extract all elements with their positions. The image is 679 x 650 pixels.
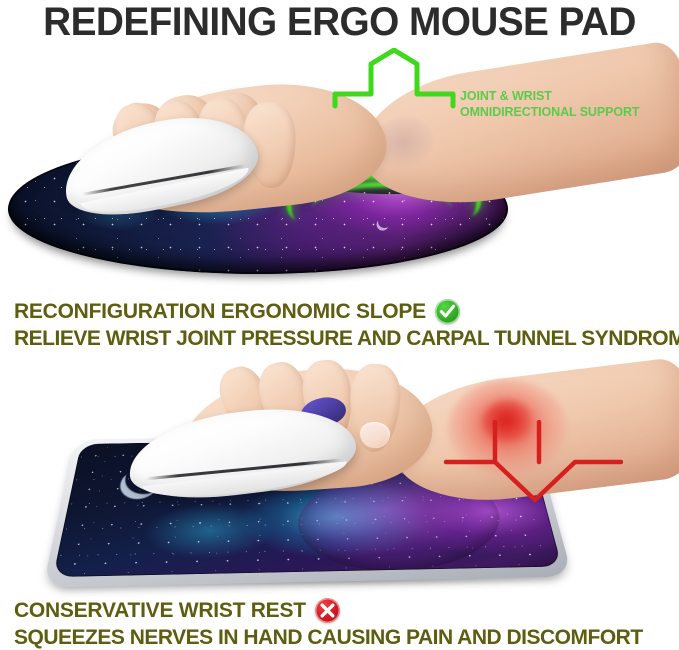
top-annotation-line2: OMNIDIRECTIONAL SUPPORT	[460, 105, 639, 121]
pros-line-1: RECONFIGURATION ERGONOMIC SLOPE	[14, 298, 426, 325]
cons-line-1: CONSERVATIVE WRIST REST	[14, 597, 306, 624]
page-title: REDEFINING ERGO MOUSE PAD	[10, 1, 669, 43]
pros-line-1-row: RECONFIGURATION ERGONOMIC SLOPE	[14, 298, 674, 325]
pros-line-2: RELIEVE WRIST JOINT PRESSURE AND CARPAL …	[14, 325, 674, 352]
check-circle-icon	[435, 299, 460, 324]
pros-text-block: RECONFIGURATION ERGONOMIC SLOPE RELIEVE …	[14, 298, 674, 352]
bottom-comparison-panel: JOINT & WRIST HANG IN THE AIR	[0, 360, 679, 595]
cons-line-1-row: CONSERVATIVE WRIST REST	[14, 597, 674, 624]
top-comparison-panel: JOINT & WRIST OMNIDIRECTIONAL SUPPORT	[0, 44, 679, 294]
cons-line-2: SQUEEZES NERVES IN HAND CAUSING PAIN AND…	[14, 624, 674, 650]
arrow-down-icon	[443, 420, 623, 504]
arrow-up-icon	[331, 48, 457, 132]
cons-text-block: CONSERVATIVE WRIST REST SQUEEZES NERVES …	[14, 597, 674, 650]
top-annotation: JOINT & WRIST OMNIDIRECTIONAL SUPPORT	[460, 89, 639, 120]
x-circle-icon	[315, 598, 340, 623]
product-infographic: REDEFINING ERGO MOUSE PAD	[0, 0, 679, 650]
top-annotation-line1: JOINT & WRIST	[460, 89, 639, 105]
